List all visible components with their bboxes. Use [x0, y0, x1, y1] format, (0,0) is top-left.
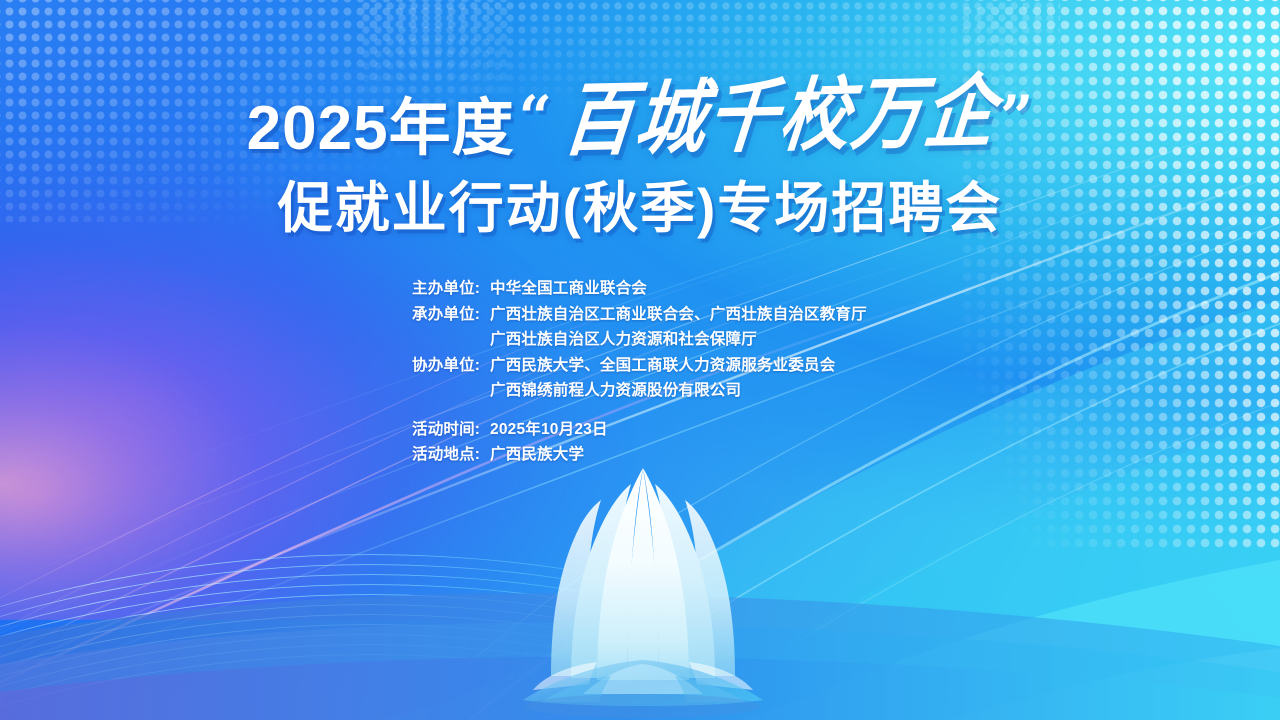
quote-open: “ — [519, 88, 552, 146]
info-value: 广西壮族自治区人力资源和社会保障厅 — [490, 332, 757, 348]
info-line: 活动地点:广西民族大学 — [412, 447, 1052, 463]
title-year: 2025年度 — [247, 98, 515, 160]
info-line: 协办单位:广西民族大学、全国工商联人力资源服务业委员会 — [412, 358, 1052, 374]
info-value: 广西壮族自治区工商业联合会、广西壮族自治区教育厅 — [490, 307, 867, 323]
info-value: 2025年10月23日 — [490, 422, 608, 438]
subtitle: 促就业行动(秋季)专场招聘会 — [0, 176, 1280, 241]
info-block: 主办单位:中华全国工商业联合会承办单位:广西壮族自治区工商业联合会、广西壮族自治… — [412, 281, 1052, 473]
info-label: 承办单位: — [412, 307, 490, 323]
info-label: 活动时间: — [412, 422, 490, 438]
info-line: 活动时间:2025年10月23日 — [412, 422, 1052, 438]
info-value: 广西民族大学 — [490, 447, 584, 463]
info-line: 主办单位:中华全国工商业联合会 — [412, 281, 1052, 297]
title-brush-phrase: 百城千校万企 — [555, 72, 1004, 161]
info-line: 承办单位:广西壮族自治区人力资源和社会保障厅 — [412, 332, 1052, 348]
poster-text-content: 2025年度 “ 百城千校万企 ” 促就业行动(秋季)专场招聘会 主办单位:中华… — [0, 0, 1280, 720]
info-value: 广西锦绣前程人力资源股份有限公司 — [490, 383, 741, 399]
main-title: 2025年度 “ 百城千校万企 ” — [0, 74, 1280, 160]
info-line: 协办单位:广西锦绣前程人力资源股份有限公司 — [412, 383, 1052, 399]
info-value: 中华全国工商业联合会 — [490, 281, 647, 297]
poster-canvas: 2025年度 “ 百城千校万企 ” 促就业行动(秋季)专场招聘会 主办单位:中华… — [0, 0, 1280, 720]
quote-close: ” — [1000, 88, 1033, 146]
info-line: 承办单位:广西壮族自治区工商业联合会、广西壮族自治区教育厅 — [412, 307, 1052, 323]
info-value: 广西民族大学、全国工商联人力资源服务业委员会 — [490, 358, 835, 374]
info-label: 协办单位: — [412, 358, 490, 374]
info-label: 活动地点: — [412, 447, 490, 463]
info-label: 主办单位: — [412, 281, 490, 297]
